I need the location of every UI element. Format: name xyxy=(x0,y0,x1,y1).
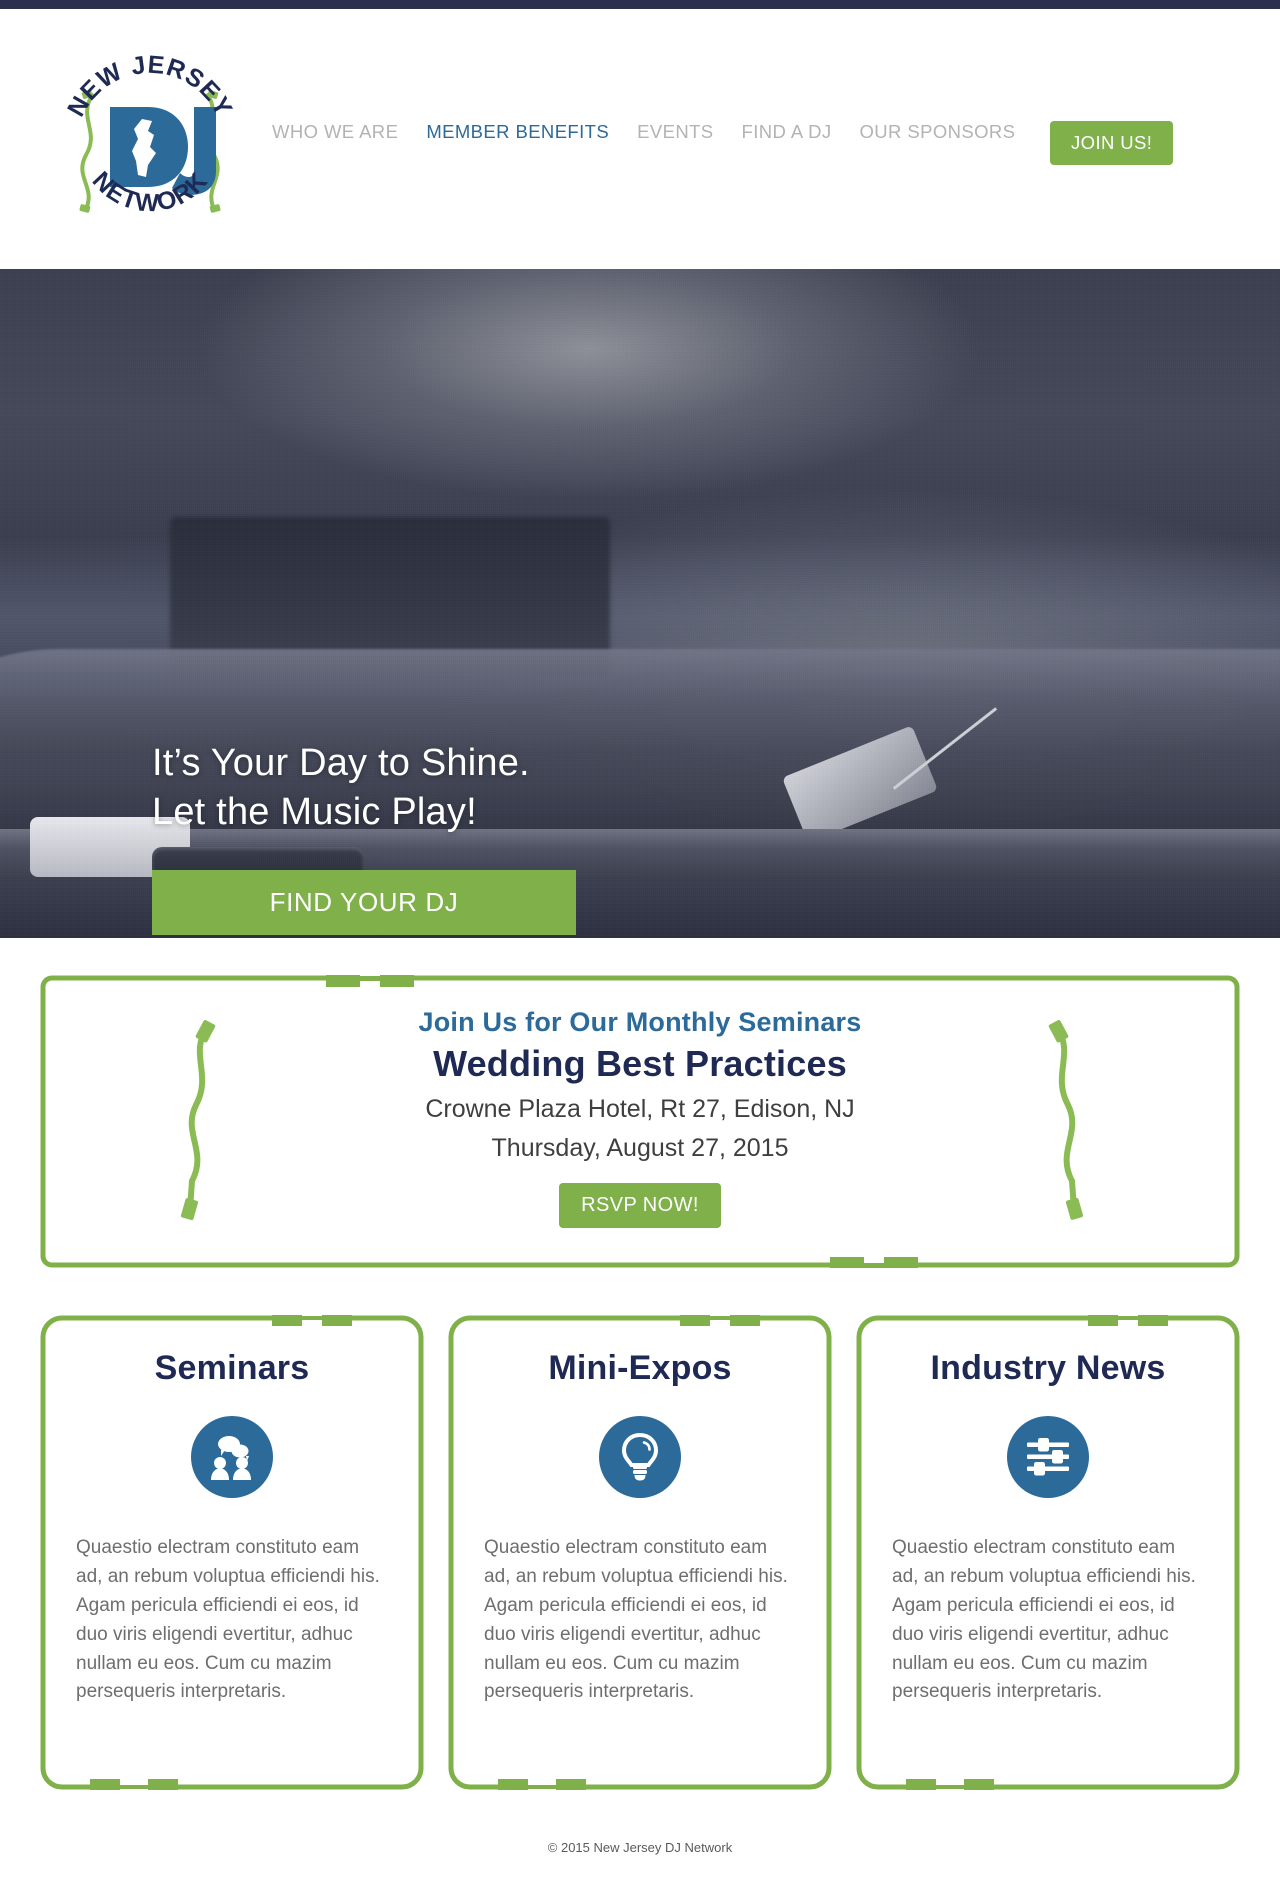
nav-item-our-sponsors[interactable]: OUR SPONSORS xyxy=(860,121,1016,143)
page-root: NEW JERSEY NETWORK WHO WE ARE MEMBER BEN… xyxy=(0,0,1280,1897)
find-your-dj-button[interactable]: FIND YOUR DJ xyxy=(152,870,576,935)
feature-cards: Seminars Quaestio electram constituto ea… xyxy=(40,1315,1240,1790)
seminar-location: Crowne Plaza Hotel, Rt 27, Edison, NJ xyxy=(40,1095,1240,1124)
nav-item-member-benefits[interactable]: MEMBER BENEFITS xyxy=(426,121,609,143)
cable-frame-card-3 xyxy=(856,1315,1240,1790)
hero-headline-line-2: Let the Music Play! xyxy=(152,788,576,837)
nav-item-find-a-dj[interactable]: FIND A DJ xyxy=(742,121,832,143)
rsvp-now-button[interactable]: RSVP NOW! xyxy=(559,1183,721,1228)
nav-item-events[interactable]: EVENTS xyxy=(637,121,713,143)
hero-headline-line-1: It’s Your Day to Shine. xyxy=(152,739,576,788)
site-footer: © 2015 New Jersey DJ Network xyxy=(0,1840,1280,1855)
site-logo[interactable]: NEW JERSEY NETWORK xyxy=(56,35,244,247)
footer-copyright: © 2015 New Jersey DJ Network xyxy=(548,1840,732,1855)
seminar-announcement-box: Join Us for Our Monthly Seminars Wedding… xyxy=(40,975,1240,1268)
hero-headline: It’s Your Day to Shine. Let the Music Pl… xyxy=(152,739,576,836)
main-nav: WHO WE ARE MEMBER BENEFITS EVENTS FIND A… xyxy=(272,121,1015,143)
nav-item-who-we-are[interactable]: WHO WE ARE xyxy=(272,121,398,143)
seminar-date: Thursday, August 27, 2015 xyxy=(40,1134,1240,1163)
hero-content: It’s Your Day to Shine. Let the Music Pl… xyxy=(152,739,576,935)
hero-banner: It’s Your Day to Shine. Let the Music Pl… xyxy=(0,269,1280,938)
card-seminars: Seminars Quaestio electram constituto ea… xyxy=(40,1315,424,1790)
top-accent-bar xyxy=(0,0,1280,9)
card-industry-news: Industry News Quaestio electram constitu… xyxy=(856,1315,1240,1790)
card-mini-expos: Mini-Expos Quaestio electram constituto … xyxy=(448,1315,832,1790)
cable-frame-card-2 xyxy=(448,1315,832,1790)
cable-frame-card-1 xyxy=(40,1315,424,1790)
seminar-title: Wedding Best Practices xyxy=(40,1043,1240,1085)
join-us-button[interactable]: JOIN US! xyxy=(1050,121,1173,165)
seminar-text-block: Join Us for Our Monthly Seminars Wedding… xyxy=(40,975,1240,1268)
site-header: NEW JERSEY NETWORK WHO WE ARE MEMBER BEN… xyxy=(0,9,1280,269)
logo-svg: NEW JERSEY NETWORK xyxy=(56,35,244,247)
seminar-kicker: Join Us for Our Monthly Seminars xyxy=(40,1007,1240,1038)
